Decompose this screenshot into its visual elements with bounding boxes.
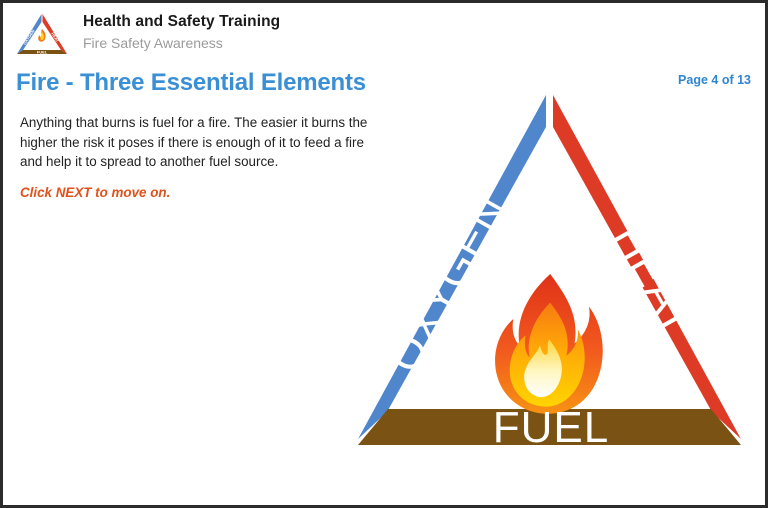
svg-text:OXYGEN: OXYGEN (22, 29, 36, 46)
brand-block: Health and Safety Training Fire Safety A… (83, 13, 280, 52)
brand-title: Health and Safety Training (83, 13, 280, 31)
call-to-action-text: Click NEXT to move on. (20, 183, 170, 202)
svg-text:FUEL: FUEL (37, 50, 48, 55)
page-title: Fire - Three Essential Elements (16, 69, 366, 97)
fire-triangle-diagram: OXYGEN HEAT FUEL (341, 87, 741, 459)
triangle-label-fuel: FUEL (493, 403, 609, 452)
header: OXYGEN HEAT FUEL Health and Safety Train… (3, 3, 765, 63)
player-toolbar (3, 450, 765, 505)
page-counter: Page 4 of 13 (678, 73, 751, 87)
fire-triangle-logo-icon: OXYGEN HEAT FUEL (13, 12, 71, 58)
flame-icon (495, 274, 603, 414)
triangle-label-heat: HEAT (603, 216, 704, 343)
body-paragraph: Anything that burns is fuel for a fire. … (20, 113, 375, 172)
course-player-window: OXYGEN HEAT FUEL Health and Safety Train… (0, 0, 768, 508)
brand-subtitle: Fire Safety Awareness (83, 34, 280, 52)
